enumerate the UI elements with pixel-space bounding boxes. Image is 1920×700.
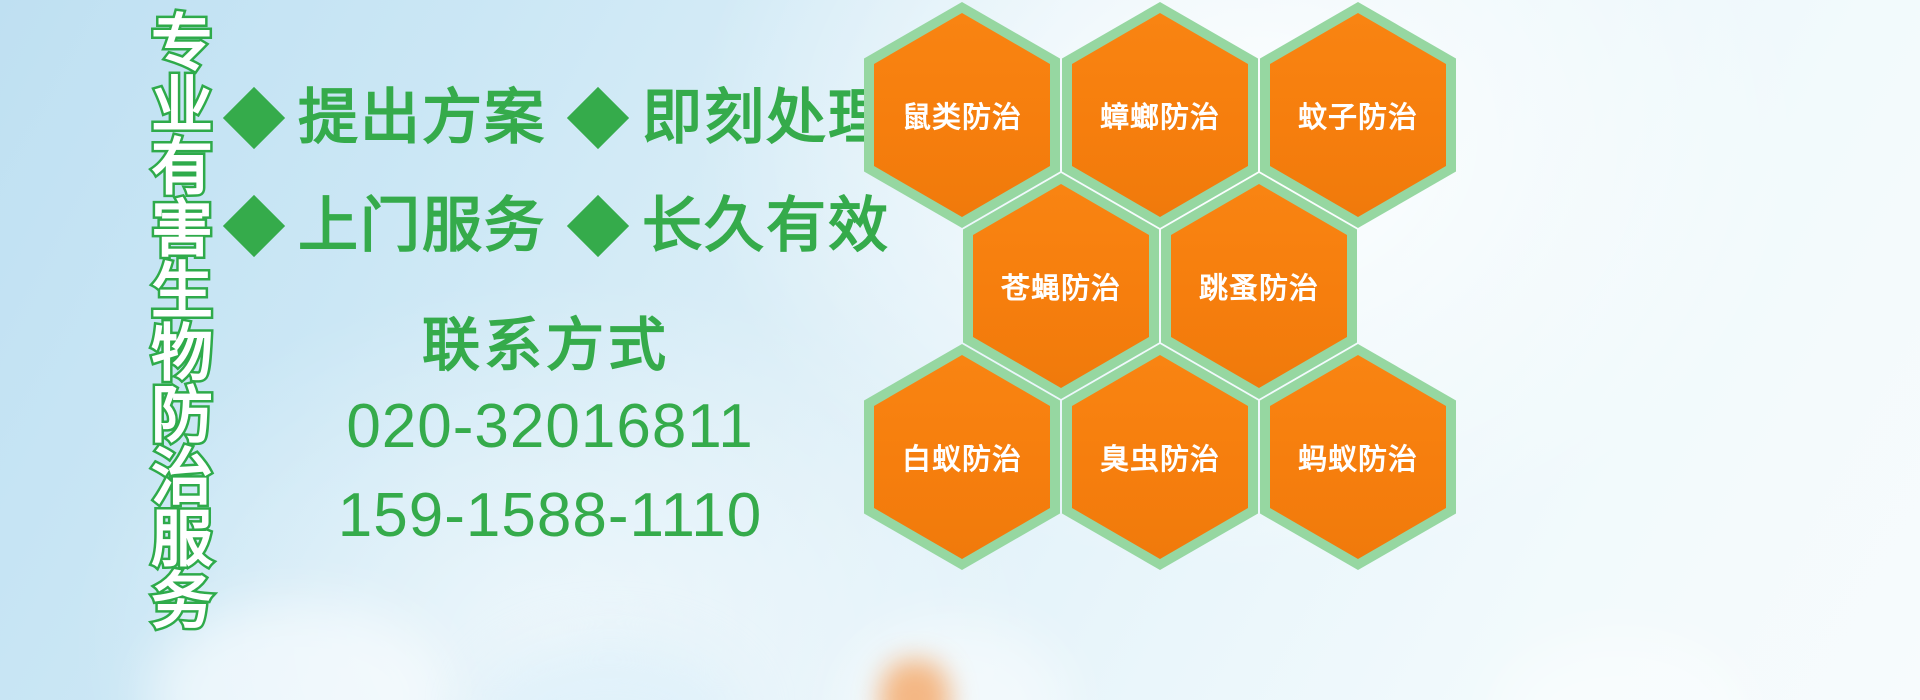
- contact-block: 联系方式 020-32016811 159-1588-1110: [230, 316, 870, 556]
- feature-row-2: 上门服务 长久有效: [232, 196, 890, 256]
- hex-inner: 蚊子防治: [1270, 13, 1446, 217]
- hex-inner: 跳蚤防治: [1171, 184, 1347, 388]
- promo-banner: 专业有害生物防治服务 提出方案 即刻处理 上门服务 长久有效 联系方式 020-…: [0, 0, 1920, 700]
- feature-label: 长久有效: [642, 196, 890, 256]
- diamond-icon: [567, 87, 629, 149]
- hex-label: 鼠类防治: [902, 94, 1022, 136]
- feature-item-propose-plan: 提出方案: [232, 88, 546, 148]
- feature-item-long-lasting: 长久有效: [576, 196, 890, 256]
- diamond-icon: [223, 195, 285, 257]
- hex-inner: 鼠类防治: [874, 13, 1050, 217]
- feature-label: 提出方案: [298, 88, 546, 148]
- hex-inner: 蚂蚁防治: [1270, 355, 1446, 559]
- hex-inner: 蟑螂防治: [1072, 13, 1248, 217]
- hex-label: 苍蝇防治: [1001, 265, 1121, 307]
- hex-label: 臭虫防治: [1100, 436, 1220, 478]
- diamond-icon: [223, 87, 285, 149]
- hex-label: 蚂蚁防治: [1298, 436, 1418, 478]
- feature-item-door-service: 上门服务: [232, 196, 546, 256]
- hex-inner: 臭虫防治: [1072, 355, 1248, 559]
- hex-label: 蟑螂防治: [1100, 94, 1220, 136]
- hex-label: 跳蚤防治: [1199, 265, 1319, 307]
- vertical-headline: 专业有害生物防治服务: [108, 10, 204, 570]
- feature-item-immediate-handling: 即刻处理: [576, 88, 890, 148]
- feature-label: 即刻处理: [642, 88, 890, 148]
- diamond-icon: [567, 195, 629, 257]
- contact-title: 联系方式: [222, 316, 870, 377]
- hex-inner: 白蚁防治: [874, 355, 1050, 559]
- background-blob: [1490, 630, 1750, 700]
- service-hexagon-grid: 鼠类防治 蟑螂防治 蚊子防治 苍蝇防治 跳蚤防治 白蚁防治: [862, 0, 1462, 700]
- contact-phone-mobile[interactable]: 159-1588-1110: [230, 476, 870, 555]
- hex-inner: 苍蝇防治: [973, 184, 1149, 388]
- hex-label: 白蚁防治: [902, 436, 1022, 478]
- feature-row-1: 提出方案 即刻处理: [232, 88, 890, 148]
- contact-phone-landline[interactable]: 020-32016811: [230, 387, 870, 466]
- hex-label: 蚊子防治: [1298, 94, 1418, 136]
- feature-label: 上门服务: [298, 196, 546, 256]
- background-blob: [480, 640, 740, 700]
